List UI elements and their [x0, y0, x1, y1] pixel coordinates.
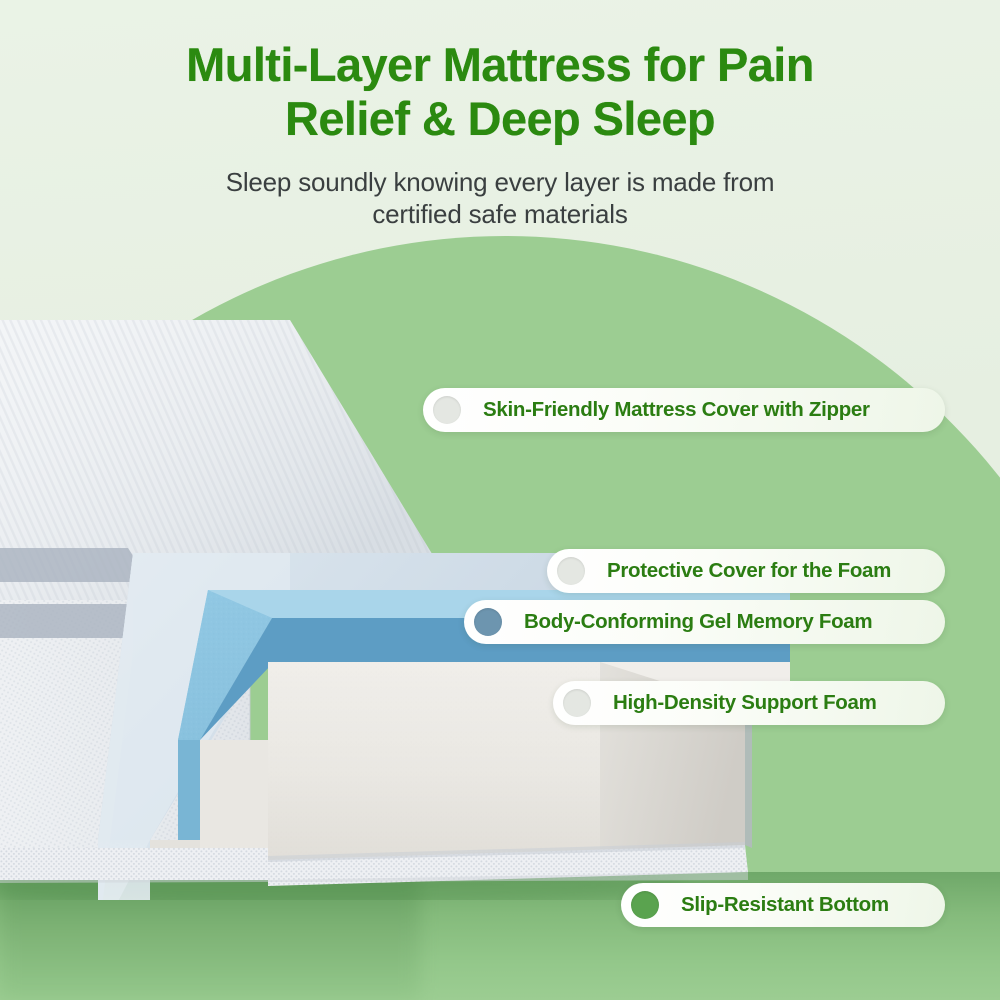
callout-dot-icon [631, 891, 659, 919]
title-line-1: Multi-Layer Mattress for Pain [0, 38, 1000, 92]
callout-label: High-Density Support Foam [613, 691, 877, 715]
callout-label: Slip-Resistant Bottom [681, 893, 889, 917]
callout-label: Protective Cover for the Foam [607, 559, 891, 583]
callout-gel-memory-foam[interactable]: Body-Conforming Gel Memory Foam [464, 600, 945, 644]
callout-dot-icon [433, 396, 461, 424]
callout-dot-icon [474, 608, 502, 636]
header: Multi-Layer Mattress for Pain Relief & D… [0, 0, 1000, 230]
page-title: Multi-Layer Mattress for Pain Relief & D… [0, 0, 1000, 146]
subtitle-line-2: certified safe materials [0, 198, 1000, 230]
callout-label: Skin-Friendly Mattress Cover with Zipper [483, 398, 870, 422]
callout-dot-icon [557, 557, 585, 585]
title-line-2: Relief & Deep Sleep [0, 92, 1000, 146]
callout-skin-friendly-cover[interactable]: Skin-Friendly Mattress Cover with Zipper [423, 388, 945, 432]
subtitle-line-1: Sleep soundly knowing every layer is mad… [0, 166, 1000, 198]
callout-slip-resistant-bottom[interactable]: Slip-Resistant Bottom [621, 883, 945, 927]
callout-high-density-support-foam[interactable]: High-Density Support Foam [553, 681, 945, 725]
infographic-canvas: Multi-Layer Mattress for Pain Relief & D… [0, 0, 1000, 1000]
page-subtitle: Sleep soundly knowing every layer is mad… [0, 166, 1000, 230]
callout-protective-cover[interactable]: Protective Cover for the Foam [547, 549, 945, 593]
callout-dot-icon [563, 689, 591, 717]
callout-label: Body-Conforming Gel Memory Foam [524, 610, 872, 634]
